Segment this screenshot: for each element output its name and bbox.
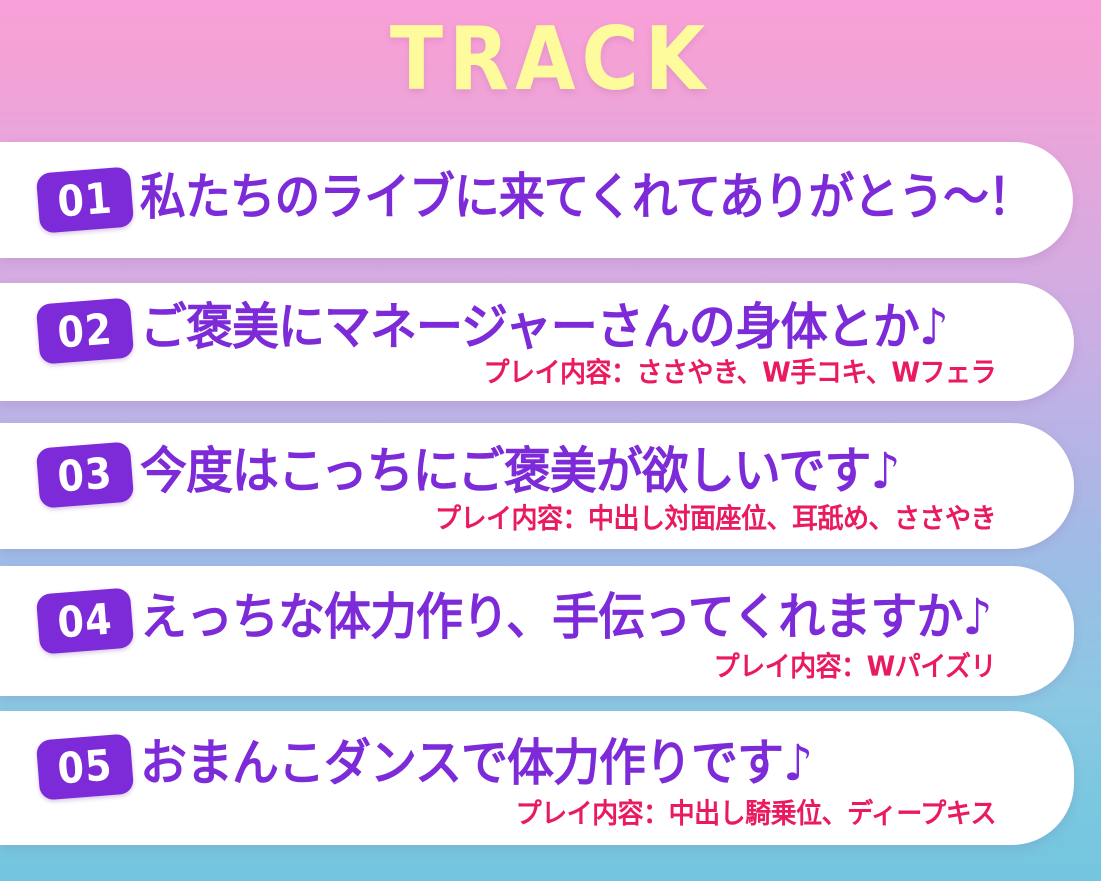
track-title-label: 今度はこっちにご褒美が欲しいです♪ bbox=[140, 447, 899, 497]
track-card[interactable]: 02 ご褒美にマネージャーさんの身体とか♪ プレイ内容：ささやき、W手コキ、Wフ… bbox=[0, 283, 1074, 401]
track-card-content: 03 今度はこっちにご褒美が欲しいです♪ プレイ内容：中出し対面座位、耳舐め、さ… bbox=[0, 423, 1074, 549]
track-title-label: ご褒美にマネージャーさんの身体とか♪ bbox=[140, 303, 948, 353]
track-number-label: 04 bbox=[56, 598, 114, 645]
track-card[interactable]: 03 今度はこっちにご褒美が欲しいです♪ プレイ内容：中出し対面座位、耳舐め、さ… bbox=[0, 423, 1074, 549]
track-list-page: TRACK 01 私たちのライブに来てくれてありがとう〜！ 02 ご褒美にマネー… bbox=[0, 0, 1101, 881]
track-card[interactable]: 05 おまんこダンスで体力作りです♪ プレイ内容：中出し騎乗位、ディープキス bbox=[0, 711, 1074, 845]
track-subtitle-label: プレイ内容：中出し騎乗位、ディープキス bbox=[516, 800, 996, 827]
track-number-badge: 05 bbox=[36, 733, 134, 800]
track-card-content: 01 私たちのライブに来てくれてありがとう〜！ bbox=[0, 142, 1073, 258]
track-title-label: 私たちのライブに来てくれてありがとう〜！ bbox=[140, 173, 1033, 223]
track-card-content: 05 おまんこダンスで体力作りです♪ プレイ内容：中出し騎乗位、ディープキス bbox=[0, 711, 1074, 845]
track-number-badge: 01 bbox=[36, 166, 134, 233]
track-title-label: えっちな体力作り、手伝ってくれますか♪ bbox=[140, 593, 991, 643]
track-title-label: おまんこダンスで体力作りです♪ bbox=[140, 739, 812, 789]
track-card-content: 02 ご褒美にマネージャーさんの身体とか♪ プレイ内容：ささやき、W手コキ、Wフ… bbox=[0, 283, 1074, 401]
track-number-label: 01 bbox=[56, 177, 114, 224]
page-header: TRACK bbox=[0, 0, 1101, 138]
track-number-badge: 04 bbox=[36, 587, 134, 654]
track-number-label: 03 bbox=[56, 452, 114, 499]
track-number-badge: 02 bbox=[36, 297, 134, 364]
track-number-badge: 03 bbox=[36, 441, 134, 508]
track-card[interactable]: 04 えっちな体力作り、手伝ってくれますか♪ プレイ内容：Wパイズリ bbox=[0, 566, 1074, 696]
track-card[interactable]: 01 私たちのライブに来てくれてありがとう〜！ bbox=[0, 142, 1073, 258]
track-subtitle-label: プレイ内容：Wパイズリ bbox=[714, 653, 996, 680]
track-number-label: 05 bbox=[56, 744, 114, 791]
track-number-label: 02 bbox=[56, 308, 114, 355]
track-card-content: 04 えっちな体力作り、手伝ってくれますか♪ プレイ内容：Wパイズリ bbox=[0, 566, 1074, 696]
page-title: TRACK bbox=[0, 16, 1101, 103]
track-subtitle-label: プレイ内容：ささやき、W手コキ、Wフェラ bbox=[484, 359, 997, 386]
track-subtitle-label: プレイ内容：中出し対面座位、耳舐め、ささやき bbox=[435, 505, 996, 532]
